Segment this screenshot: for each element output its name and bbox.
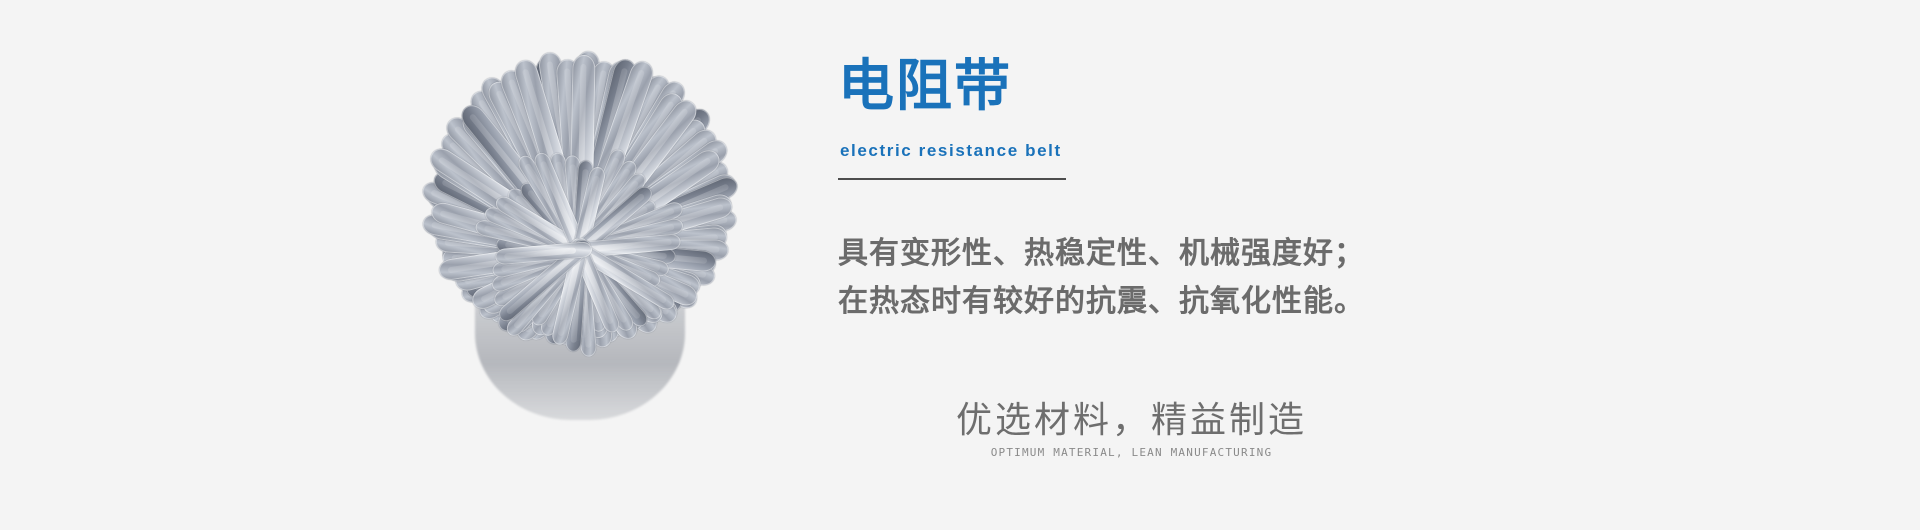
slogan-block: 优选材料，精益制造 OPTIMUM MATERIAL, LEAN MANUFAC…: [956, 398, 1307, 460]
page-title: 电阻带: [838, 58, 1012, 114]
product-description: 具有变形性、热稳定性、机械强度好； 在热态时有较好的抗震、抗氧化性能。: [838, 230, 1365, 326]
slogan-chinese: 优选材料，精益制造: [956, 398, 1307, 442]
page-subtitle: electric resistance belt: [840, 142, 1062, 159]
banner-content: 电阻带 electric resistance belt 具有变形性、热稳定性、…: [838, 0, 1598, 530]
title-divider: [838, 178, 1066, 180]
product-image: [370, 55, 790, 445]
description-line-2: 在热态时有较好的抗震、抗氧化性能。: [838, 278, 1365, 326]
description-line-1: 具有变形性、热稳定性、机械强度好；: [838, 230, 1365, 278]
product-banner: 电阻带 electric resistance belt 具有变形性、热稳定性、…: [0, 0, 1920, 530]
slogan-english: OPTIMUM MATERIAL, LEAN MANUFACTURING: [956, 446, 1307, 460]
resistance-belt-starburst-icon: [370, 55, 790, 445]
